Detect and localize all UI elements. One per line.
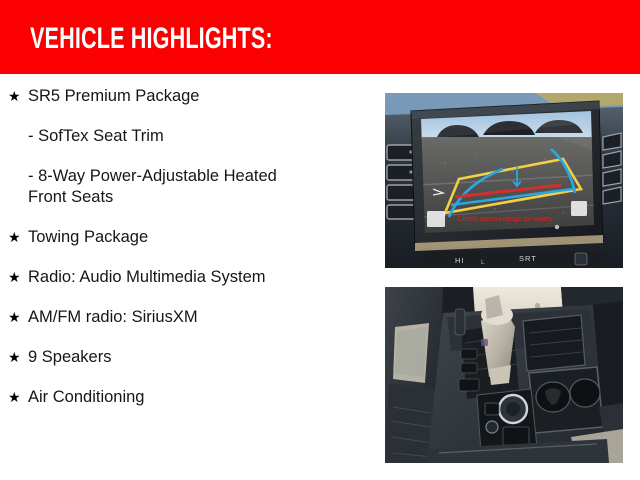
climate-button-row: HI L SRT	[425, 251, 603, 268]
svg-text:L: L	[481, 259, 485, 266]
feature-list-item: ★Radio: Audio Multimedia System	[0, 267, 372, 288]
camera-softkey-right	[571, 201, 587, 216]
feature-label: Towing Package	[28, 227, 372, 248]
star-bullet-icon: ★	[8, 387, 28, 408]
star-bullet-icon: ★	[8, 227, 28, 248]
feature-list-item: ★SR5 Premium Package	[0, 86, 372, 107]
feature-label: SR5 Premium Package	[28, 86, 372, 107]
star-bullet-icon: ★	[8, 86, 28, 107]
feature-sub-item: - SofTex Seat Trim	[0, 126, 372, 147]
svg-text:SRT: SRT	[519, 254, 537, 263]
feature-list-item: ★Air Conditioning	[0, 387, 372, 408]
feature-label: - 8-Way Power-Adjustable Heated Front Se…	[28, 166, 372, 208]
header-banner: VEHICLE HIGHLIGHTS:	[0, 0, 640, 74]
feature-list-item: ★9 Speakers	[0, 347, 372, 368]
center-console-illustration	[385, 287, 623, 463]
feature-label: - SofTex Seat Trim	[28, 126, 372, 147]
page-title: VEHICLE HIGHLIGHTS:	[30, 24, 273, 54]
star-bullet-icon: ★	[8, 307, 28, 328]
feature-label: Air Conditioning	[28, 387, 372, 408]
shifter-side-switch	[455, 309, 465, 335]
feature-list-item: ★Towing Package	[0, 227, 372, 248]
photo-backup-camera-display: Check surroundings for safety HI L SRT	[385, 93, 623, 268]
photo-center-console	[385, 287, 623, 463]
vehicle-highlights-list: ★SR5 Premium Package- SofTex Seat Trim- …	[0, 86, 372, 427]
cup-holders	[529, 367, 603, 433]
feature-sub-item: - 8-Way Power-Adjustable Heated Front Se…	[0, 166, 372, 208]
camera-screen: Check surroundings for safety	[415, 107, 600, 237]
feature-label: Radio: Audio Multimedia System	[28, 267, 372, 288]
camera-warning-caption: Check surroundings for safety	[457, 214, 553, 223]
star-bullet-icon: ★	[8, 267, 28, 288]
camera-softkey-left	[427, 211, 445, 227]
backup-camera-illustration: Check surroundings for safety HI L SRT	[385, 93, 623, 268]
star-bullet-icon: ★	[8, 347, 28, 368]
feature-label: AM/FM radio: SiriusXM	[28, 307, 372, 328]
feature-label: 9 Speakers	[28, 347, 372, 368]
svg-text:HI: HI	[455, 256, 465, 265]
feature-list-item: ★AM/FM radio: SiriusXM	[0, 307, 372, 328]
console-knob-small	[486, 421, 498, 433]
